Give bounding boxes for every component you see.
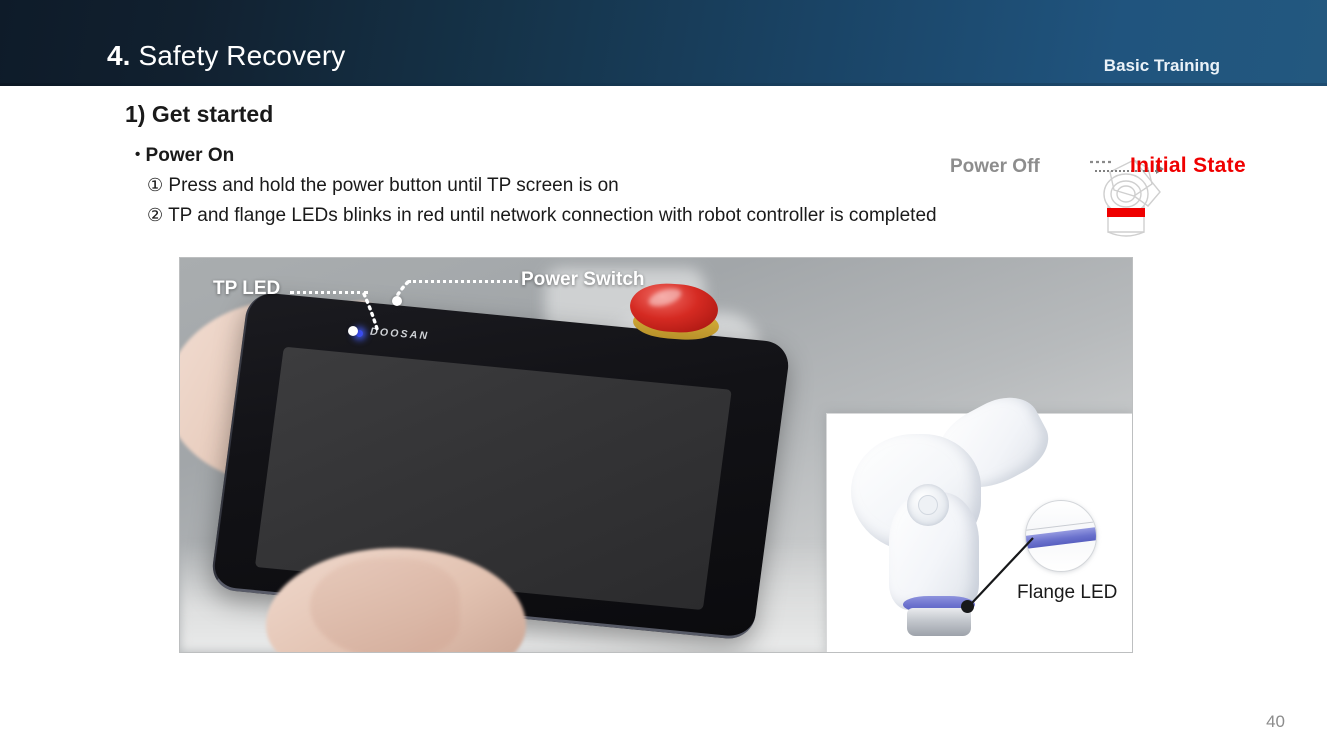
step-item: ① Press and hold the power button until … [147, 175, 619, 197]
circled-number-one-icon: ① [147, 175, 163, 195]
teach-pendant-photo: DOOSAN TP LED Power Switch [179, 257, 1133, 653]
page-number: 40 [1266, 712, 1285, 732]
step-item: ② TP and flange LEDs blinks in red until… [147, 205, 937, 227]
tp-led-leader-dot [348, 326, 358, 336]
state-transition-callout: Power Off Initial State [940, 148, 1270, 253]
flange-metal-ring [907, 608, 971, 636]
circled-number-two-icon: ② [147, 205, 163, 225]
state-power-off-label: Power Off [950, 156, 1040, 178]
tp-led-leader-line [290, 291, 368, 294]
bullet-power-on: • Power On [135, 145, 234, 167]
photo-label-power-switch: Power Switch [521, 269, 645, 291]
bullet-marker-icon: • [135, 146, 140, 163]
page-title: 4. Safety Recovery [107, 40, 345, 72]
header-subtitle: Basic Training [1104, 56, 1220, 76]
power-switch-leader-line [408, 280, 518, 283]
magnifier-pointer-dot [961, 600, 974, 613]
photo-label-tp-led: TP LED [213, 278, 280, 300]
step-text: Press and hold the power button until TP… [168, 175, 618, 196]
flange-led-inset: Flange LED [826, 413, 1133, 653]
page-title-number: 4. [107, 40, 131, 71]
state-initial-label: Initial State [1130, 154, 1246, 178]
robot-joint-cap-inner [918, 495, 938, 515]
flange-led-caption: Flange LED [1017, 582, 1117, 604]
bullet-label: Power On [146, 145, 235, 166]
page-title-text: Safety Recovery [131, 40, 346, 71]
slide-header-banner: 4. Safety Recovery Basic Training [0, 0, 1327, 86]
power-switch-leader-dot [392, 296, 402, 306]
hand-thumb [310, 558, 460, 653]
section-title: 1) Get started [125, 101, 273, 128]
step-text: TP and flange LEDs blinks in red until n… [168, 205, 937, 226]
slide-root: 4. Safety Recovery Basic Training 1) Get… [0, 0, 1327, 739]
